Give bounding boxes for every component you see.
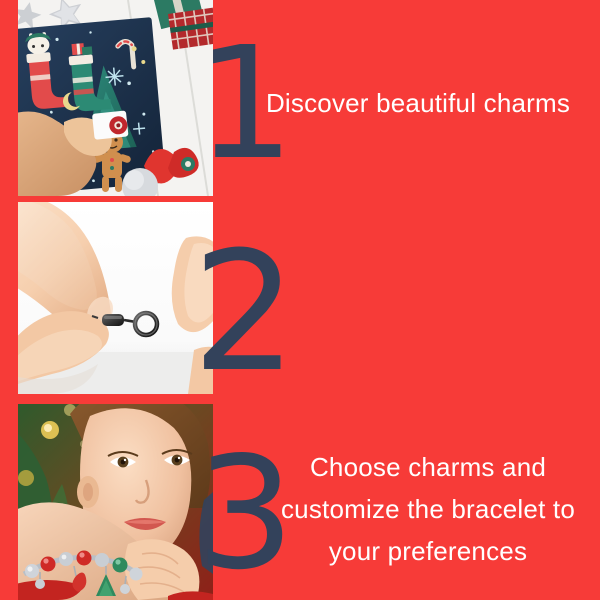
girl-wearing-bracelet-photo (18, 404, 213, 600)
step-1-numeral: 1 (196, 26, 293, 181)
step-1-photo (18, 0, 213, 196)
step-3-photo (18, 404, 213, 600)
step-2-numeral: 2 (192, 230, 297, 395)
step-3-numeral: 3 (196, 436, 295, 591)
step-2-photo (18, 202, 213, 394)
how-it-works-poster: 1 Discover beautiful charms (0, 0, 600, 600)
caption-line: Discover beautiful charms (246, 82, 590, 124)
step-row-2: 2 Choose charms and customize the bracel… (0, 202, 600, 394)
step-row-1: 1 Discover beautiful charms (0, 0, 600, 196)
charm-clasp-closeup-photo (18, 202, 213, 394)
caption-line: Choose charms and (262, 446, 594, 488)
caption-line: your preferences (262, 530, 594, 572)
step-1-caption: Discover beautiful charms (246, 82, 590, 124)
christmas-advent-calendar-photo (18, 0, 213, 196)
caption-line: customize the bracelet to (262, 488, 594, 530)
step-2-caption: Choose charms and customize the bracelet… (262, 446, 594, 572)
